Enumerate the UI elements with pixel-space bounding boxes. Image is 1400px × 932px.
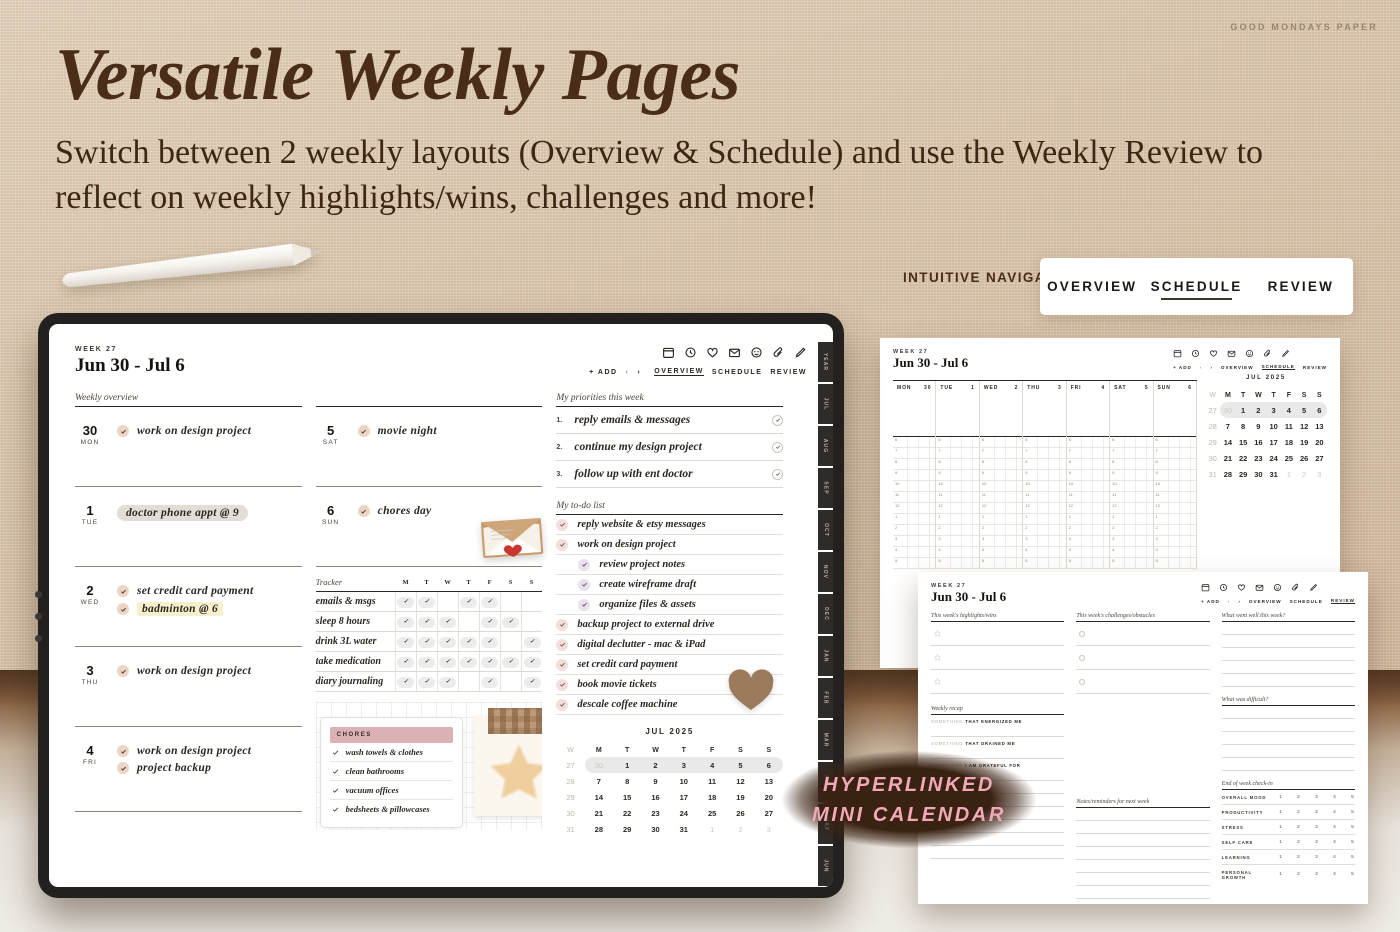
schedule-slot[interactable]: 5 (1154, 558, 1196, 569)
schedule-slot[interactable]: 5 (1067, 558, 1109, 569)
schedule-allday-area[interactable] (1110, 395, 1152, 437)
overview-add-button[interactable]: + ADD (589, 369, 617, 376)
tracker-cell[interactable]: ✓ (437, 592, 458, 612)
event-item[interactable]: work on design project (117, 665, 302, 677)
chore-item[interactable]: wash towels & clothes (330, 743, 453, 762)
schedule-slot[interactable]: 6 (893, 437, 935, 448)
rating-5[interactable]: 5 (1350, 825, 1355, 830)
schedule-tab-schedule[interactable]: SCHEDULE (1262, 364, 1295, 370)
schedule-tab-review[interactable]: REVIEW (1303, 365, 1327, 370)
side-tab-nov[interactable]: NOV (818, 552, 833, 592)
schedule-allday-area[interactable] (893, 395, 935, 437)
schedule-slot[interactable]: 8 (1023, 459, 1065, 470)
clock-icon[interactable] (1219, 583, 1228, 592)
difficult-line[interactable] (1222, 732, 1355, 745)
todo-item[interactable]: digital declutter - mac & iPad (556, 635, 783, 655)
mini-cal-day[interactable]: 17 (670, 789, 698, 805)
schedule-slot[interactable]: 12 (980, 503, 1022, 514)
mini-cal-day[interactable]: 30 (641, 821, 669, 837)
side-tab-feb[interactable]: FEB (818, 678, 833, 718)
wentwell-line[interactable] (1222, 674, 1355, 687)
challenge-entry[interactable] (1076, 646, 1209, 670)
tracker-cell[interactable]: ✓ (500, 592, 521, 612)
check-icon[interactable] (332, 806, 339, 813)
challenge-entry[interactable] (1076, 670, 1209, 694)
schedule-slot[interactable]: 12 (1110, 503, 1152, 514)
todo-item[interactable]: backup project to external drive (556, 615, 783, 635)
mc2-day[interactable]: 27 (1312, 450, 1327, 466)
schedule-mini-calendar[interactable]: JUL 2025 W M T W T F S S 2730123456 2878… (1205, 375, 1327, 569)
mini-cal-week-row[interactable]: 2730123456 (556, 757, 783, 773)
heart-icon[interactable] (706, 346, 719, 359)
difficult-line[interactable] (1222, 745, 1355, 758)
schedule-slot[interactable]: 6 (1154, 437, 1196, 448)
challenge-entry[interactable] (1076, 622, 1209, 646)
rating-2[interactable]: 2 (1296, 825, 1301, 830)
schedule-slot[interactable]: 4 (1154, 547, 1196, 558)
schedule-slot[interactable]: 12 (1067, 503, 1109, 514)
mc2-day[interactable]: 19 (1297, 434, 1312, 450)
mini-cal-day[interactable]: 1 (613, 757, 641, 773)
schedule-slot[interactable]: 7 (1110, 448, 1152, 459)
calendar-icon[interactable] (1173, 349, 1182, 358)
mini-cal-day[interactable]: 7 (585, 773, 613, 789)
side-tab-jul[interactable]: JUL (818, 384, 833, 424)
tracker-cell[interactable]: ✓ (479, 612, 500, 632)
check-icon[interactable] (578, 599, 590, 611)
rating-5[interactable]: 5 (1350, 840, 1355, 845)
schedule-slot[interactable]: 3 (1023, 536, 1065, 547)
tracker-cell[interactable]: ✓ (395, 592, 416, 612)
mini-cal-day[interactable]: 23 (641, 805, 669, 821)
mc2-day[interactable]: 8 (1236, 418, 1251, 434)
overview-tab-schedule[interactable]: SCHEDULE (712, 369, 763, 376)
schedule-slot[interactable]: 11 (1067, 492, 1109, 503)
mc2-day[interactable]: 10 (1266, 418, 1281, 434)
mc2-day[interactable]: 12 (1297, 418, 1312, 434)
check-icon[interactable] (117, 585, 129, 597)
schedule-slot[interactable]: 4 (893, 547, 935, 558)
schedule-slot[interactable]: 9 (1067, 470, 1109, 481)
schedule-column[interactable]: FRI4 678910111212345 (1067, 381, 1110, 569)
todo-item[interactable]: review project notes (556, 555, 783, 575)
schedule-slot[interactable]: 2 (893, 525, 935, 536)
callout-tab-schedule[interactable]: SCHEDULE (1144, 271, 1248, 302)
check-icon[interactable] (556, 639, 568, 651)
check-icon[interactable] (117, 665, 129, 677)
mc2-day[interactable]: 7 (1220, 418, 1235, 434)
schedule-slot[interactable]: 5 (980, 558, 1022, 569)
day-row-mon[interactable]: 30MON work on design project (75, 407, 302, 487)
smiley-icon[interactable] (1245, 349, 1254, 358)
tracker-cell[interactable]: ✓ (395, 632, 416, 652)
mail-icon[interactable] (728, 346, 741, 359)
mini-cal-day[interactable]: 21 (585, 805, 613, 821)
check-icon[interactable] (332, 749, 339, 756)
todo-item[interactable]: work on design project (556, 535, 783, 555)
schedule-slot[interactable]: 6 (1110, 437, 1152, 448)
event-item[interactable]: badminton @ 6 (117, 602, 302, 616)
pencil-icon[interactable] (1281, 349, 1290, 358)
paperclip-icon[interactable] (1263, 349, 1272, 358)
schedule-slot[interactable]: 2 (1067, 525, 1109, 536)
mc2-day[interactable]: 24 (1266, 450, 1281, 466)
mini-cal-day[interactable]: 5 (726, 757, 754, 773)
mini-cal-day[interactable]: 12 (726, 773, 754, 789)
tracker-cell[interactable]: ✓ (479, 652, 500, 672)
schedule-column[interactable]: TUE1 678910111212345 (936, 381, 979, 569)
pencil-icon[interactable] (794, 346, 807, 359)
mini-cal-day[interactable]: 30 (585, 757, 613, 773)
schedule-slot[interactable]: 7 (980, 448, 1022, 459)
rating-1[interactable]: 1 (1278, 795, 1283, 800)
mc2-day[interactable]: 17 (1266, 434, 1281, 450)
schedule-slot[interactable]: 2 (936, 525, 978, 536)
rating-5[interactable]: 5 (1350, 810, 1355, 815)
schedule-slot[interactable]: 2 (1110, 525, 1152, 536)
schedule-slot[interactable]: 7 (893, 448, 935, 459)
mc2-day[interactable]: 13 (1312, 418, 1327, 434)
schedule-slot[interactable]: 1 (1110, 514, 1152, 525)
schedule-slot[interactable]: 9 (936, 470, 978, 481)
schedule-slot[interactable]: 8 (893, 459, 935, 470)
overview-next-button[interactable]: › (637, 369, 641, 376)
mc2-day[interactable]: 28 (1220, 466, 1235, 482)
priority-row[interactable]: 2. continue my design project (556, 434, 783, 461)
check-icon[interactable] (556, 659, 568, 671)
checkin-row[interactable]: OVERALL MOOD 12345 (1222, 790, 1355, 805)
side-tab-jan[interactable]: JAN (818, 636, 833, 676)
schedule-slot[interactable]: 12 (1023, 503, 1065, 514)
mc2-day[interactable]: 30 (1251, 466, 1266, 482)
schedule-column[interactable]: SAT5 678910111212345 (1110, 381, 1153, 569)
tracker-cell[interactable]: ✓ (395, 672, 416, 692)
rating-4[interactable]: 4 (1332, 872, 1337, 877)
rating-3[interactable]: 3 (1314, 840, 1319, 845)
schedule-prev-button[interactable]: ‹ (1200, 365, 1203, 370)
mc2-day[interactable]: 22 (1236, 450, 1251, 466)
schedule-slot[interactable]: 3 (1067, 536, 1109, 547)
check-icon[interactable] (772, 415, 783, 426)
schedule-slot[interactable]: 8 (1110, 459, 1152, 470)
event-item[interactable]: work on design project (117, 745, 302, 757)
mini-cal-day[interactable]: 10 (670, 773, 698, 789)
mini-cal-day[interactable]: 25 (698, 805, 726, 821)
notes-input-line[interactable] (1076, 821, 1209, 834)
side-tab-year[interactable]: YEAR (818, 342, 833, 382)
check-icon[interactable] (556, 539, 568, 551)
mc2-day[interactable]: 25 (1281, 450, 1296, 466)
schedule-slot[interactable]: 6 (1067, 437, 1109, 448)
schedule-slot[interactable]: 6 (980, 437, 1022, 448)
mc2-day[interactable]: 14 (1220, 434, 1235, 450)
tracker-cell[interactable]: ✓ (479, 632, 500, 652)
mc2-day[interactable]: 1 (1236, 402, 1251, 418)
callout-tab-overview[interactable]: OVERVIEW (1040, 271, 1144, 302)
review-next-button[interactable]: › (1238, 599, 1241, 604)
mc2-day[interactable]: 2 (1251, 402, 1266, 418)
check-icon[interactable] (556, 619, 568, 631)
mini-cal-day[interactable]: 31 (670, 821, 698, 837)
schedule-allday-area[interactable] (1154, 395, 1196, 437)
day-row-fri[interactable]: 4FRI work on design project project back… (75, 727, 302, 807)
check-icon[interactable] (117, 762, 129, 774)
rating-3[interactable]: 3 (1314, 810, 1319, 815)
schedule-slot[interactable]: 4 (1023, 547, 1065, 558)
tracker-cell[interactable]: ✓ (500, 632, 521, 652)
pencil-icon[interactable] (1309, 583, 1318, 592)
mc2-day[interactable]: 3 (1266, 402, 1281, 418)
mini-cal-day[interactable]: 22 (613, 805, 641, 821)
check-icon[interactable] (772, 442, 783, 453)
tracker-cell[interactable]: ✓ (416, 652, 437, 672)
clock-icon[interactable] (684, 346, 697, 359)
day-row-sat[interactable]: 5SAT movie night (316, 407, 543, 487)
event-item[interactable]: work on design project (117, 425, 302, 437)
schedule-slot[interactable]: 9 (1154, 470, 1196, 481)
schedule-slot[interactable]: 7 (1067, 448, 1109, 459)
schedule-column[interactable]: MON30 678910111212345 (893, 381, 936, 569)
notes-input-line[interactable] (1076, 873, 1209, 886)
priority-row[interactable]: 3. follow up with ent doctor (556, 461, 783, 488)
mail-icon[interactable] (1255, 583, 1264, 592)
rating-1[interactable]: 1 (1278, 872, 1283, 877)
check-icon[interactable] (117, 745, 129, 757)
day-row-thu[interactable]: 3THU work on design project (75, 647, 302, 727)
schedule-slot[interactable]: 12 (936, 503, 978, 514)
mini-cal-day[interactable]: 18 (698, 789, 726, 805)
paperclip-icon[interactable] (1291, 583, 1300, 592)
schedule-slot[interactable]: 3 (1154, 536, 1196, 547)
tracker-cell[interactable]: ✓ (416, 672, 437, 692)
mc2-day[interactable]: 6 (1312, 402, 1327, 418)
highlight-entry[interactable] (931, 622, 1064, 646)
overview-tab-review[interactable]: REVIEW (770, 369, 807, 376)
schedule-slot[interactable]: 3 (936, 536, 978, 547)
day-row-tue[interactable]: 1TUE doctor phone appt @ 9 (75, 487, 302, 567)
schedule-slot[interactable]: 9 (1110, 470, 1152, 481)
rating-2[interactable]: 2 (1296, 855, 1301, 860)
rating-2[interactable]: 2 (1296, 840, 1301, 845)
checkin-row[interactable]: PERSONAL GROWTH 12345 (1222, 865, 1355, 884)
tracker-cell[interactable]: ✓ (458, 672, 479, 692)
mc2-day[interactable]: 20 (1312, 434, 1327, 450)
schedule-slot[interactable]: 10 (893, 481, 935, 492)
tracker-cell[interactable]: ✓ (437, 612, 458, 632)
mini-cal-week-row[interactable]: 3128293031123 (556, 821, 783, 837)
mini-cal-week-row[interactable]: 2878910111213 (556, 773, 783, 789)
tracker-cell[interactable]: ✓ (521, 592, 542, 612)
mc2-day[interactable]: 15 (1236, 434, 1251, 450)
tracker-cell[interactable]: ✓ (458, 632, 479, 652)
mc2-day[interactable]: 5 (1297, 402, 1312, 418)
checkin-row[interactable]: LEARNING 12345 (1222, 850, 1355, 865)
rating-4[interactable]: 4 (1332, 795, 1337, 800)
schedule-slot[interactable]: 12 (893, 503, 935, 514)
schedule-slot[interactable]: 10 (1023, 481, 1065, 492)
mini-cal-day[interactable]: 3 (670, 757, 698, 773)
schedule-slot[interactable]: 1 (936, 514, 978, 525)
mc2-day[interactable]: 30 (1220, 402, 1235, 418)
todo-item[interactable]: create wireframe draft (556, 575, 783, 595)
overview-tab-overview[interactable]: OVERVIEW (654, 368, 704, 376)
rating-3[interactable]: 3 (1314, 872, 1319, 877)
schedule-slot[interactable]: 2 (1154, 525, 1196, 536)
tracker-cell[interactable]: ✓ (500, 652, 521, 672)
schedule-slot[interactable]: 7 (1154, 448, 1196, 459)
side-tab-aug[interactable]: AUG (818, 426, 833, 466)
check-icon[interactable] (332, 787, 339, 794)
schedule-slot[interactable]: 5 (936, 558, 978, 569)
notes-input-line[interactable] (1076, 860, 1209, 873)
mini-cal-day[interactable]: 26 (726, 805, 754, 821)
schedule-slot[interactable]: 7 (936, 448, 978, 459)
difficult-line[interactable] (1222, 758, 1355, 771)
schedule-slot[interactable]: 11 (1154, 492, 1196, 503)
clock-icon[interactable] (1191, 349, 1200, 358)
smiley-icon[interactable] (750, 346, 763, 359)
rating-5[interactable]: 5 (1350, 795, 1355, 800)
mini-cal-day[interactable]: 24 (670, 805, 698, 821)
side-tab-oct[interactable]: OCT (818, 510, 833, 550)
difficult-line[interactable] (1222, 719, 1355, 732)
calendar-icon[interactable] (1201, 583, 1210, 592)
check-icon[interactable] (332, 768, 339, 775)
schedule-slot[interactable]: 11 (936, 492, 978, 503)
tracker-cell[interactable]: ✓ (458, 592, 479, 612)
tracker-cell[interactable]: ✓ (521, 672, 542, 692)
schedule-slot[interactable]: 3 (893, 536, 935, 547)
wentwell-line[interactable] (1222, 661, 1355, 674)
overview-prev-button[interactable]: ‹ (626, 369, 630, 376)
mini-cal-day[interactable]: 11 (698, 773, 726, 789)
tracker-cell[interactable]: ✓ (395, 612, 416, 632)
check-icon[interactable] (578, 579, 590, 591)
schedule-slot[interactable]: 7 (1023, 448, 1065, 459)
schedule-slot[interactable]: 11 (1023, 492, 1065, 503)
mini-cal-day[interactable]: 14 (585, 789, 613, 805)
mini-cal-week-row[interactable]: 3021222324252627 (556, 805, 783, 821)
rating-4[interactable]: 4 (1332, 825, 1337, 830)
chore-item[interactable]: clean bathrooms (330, 762, 453, 781)
rating-1[interactable]: 1 (1278, 855, 1283, 860)
review-add-button[interactable]: + ADD (1201, 599, 1220, 604)
schedule-slot[interactable]: 2 (1023, 525, 1065, 536)
mail-icon[interactable] (1227, 349, 1236, 358)
highlight-entry[interactable] (931, 670, 1064, 694)
schedule-slot[interactable]: 4 (980, 547, 1022, 558)
check-icon[interactable] (117, 425, 129, 437)
schedule-slot[interactable]: 6 (936, 437, 978, 448)
schedule-slot[interactable]: 3 (980, 536, 1022, 547)
tracker-cell[interactable]: ✓ (479, 592, 500, 612)
schedule-slot[interactable]: 9 (893, 470, 935, 481)
day-row-wed[interactable]: 2WED set credit card payment badminton @… (75, 567, 302, 647)
schedule-allday-area[interactable] (980, 395, 1022, 437)
check-icon[interactable] (556, 519, 568, 531)
review-tab-overview[interactable]: OVERVIEW (1249, 599, 1282, 604)
todo-item[interactable]: organize files & assets (556, 595, 783, 615)
check-icon[interactable] (556, 679, 568, 691)
mc2-day[interactable]: 21 (1220, 450, 1235, 466)
schedule-slot[interactable]: 11 (893, 492, 935, 503)
heart-icon[interactable] (1209, 349, 1218, 358)
tracker-cell[interactable]: ✓ (395, 652, 416, 672)
priority-row[interactable]: 1. reply emails & messages (556, 407, 783, 434)
mc2-day[interactable]: 1 (1281, 466, 1296, 482)
mc2-day[interactable]: 23 (1251, 450, 1266, 466)
tracker-cell[interactable]: ✓ (437, 672, 458, 692)
check-icon[interactable] (556, 699, 568, 711)
mc2-day[interactable]: 31 (1266, 466, 1281, 482)
rating-5[interactable]: 5 (1350, 855, 1355, 860)
tracker-cell[interactable]: ✓ (416, 612, 437, 632)
mini-calendar[interactable]: JUL 2025 W M T W T F S S (556, 727, 783, 837)
mini-cal-day[interactable]: 4 (698, 757, 726, 773)
wentwell-line[interactable] (1222, 622, 1355, 635)
mc2-day[interactable]: 16 (1251, 434, 1266, 450)
schedule-column[interactable]: WED2 678910111212345 (980, 381, 1023, 569)
side-tab-dec[interactable]: DEC (818, 594, 833, 634)
event-item[interactable]: movie night (358, 425, 543, 437)
rating-2[interactable]: 2 (1296, 810, 1301, 815)
calendar-icon[interactable] (662, 346, 675, 359)
difficult-line[interactable] (1222, 706, 1355, 719)
mc2-day[interactable]: 3 (1312, 466, 1327, 482)
wentwell-line[interactable] (1222, 648, 1355, 661)
schedule-slot[interactable]: 6 (1023, 437, 1065, 448)
check-icon[interactable] (358, 425, 370, 437)
mini-cal-day[interactable]: 16 (641, 789, 669, 805)
schedule-slot[interactable]: 11 (1110, 492, 1152, 503)
review-prev-button[interactable]: ‹ (1228, 599, 1231, 604)
smiley-icon[interactable] (1273, 583, 1282, 592)
rating-4[interactable]: 4 (1332, 855, 1337, 860)
side-tab-sep[interactable]: SEP (818, 468, 833, 508)
review-tab-review[interactable]: REVIEW (1331, 598, 1355, 604)
tracker-cell[interactable]: ✓ (416, 592, 437, 612)
schedule-column[interactable]: THU3 678910111212345 (1023, 381, 1066, 569)
rating-3[interactable]: 3 (1314, 795, 1319, 800)
mc2-day[interactable]: 9 (1251, 418, 1266, 434)
tracker-cell[interactable]: ✓ (458, 652, 479, 672)
tracker-cell[interactable]: ✓ (437, 632, 458, 652)
check-icon[interactable] (117, 603, 129, 615)
schedule-next-button[interactable]: › (1210, 365, 1213, 370)
wentwell-line[interactable] (1222, 635, 1355, 648)
recap-input-line[interactable] (931, 724, 1064, 737)
chore-item[interactable]: bedsheets & pillowcases (330, 800, 453, 818)
rating-1[interactable]: 1 (1278, 825, 1283, 830)
schedule-slot[interactable]: 8 (1067, 459, 1109, 470)
tracker-cell[interactable]: ✓ (479, 672, 500, 692)
todo-item[interactable]: reply website & etsy messages (556, 515, 783, 535)
rating-3[interactable]: 3 (1314, 825, 1319, 830)
notes-input-line[interactable] (1076, 834, 1209, 847)
highlight-entry[interactable] (931, 646, 1064, 670)
checkin-row[interactable]: PRODUCTIVITY 12345 (1222, 805, 1355, 820)
rating-2[interactable]: 2 (1296, 872, 1301, 877)
schedule-allday-area[interactable] (1067, 395, 1109, 437)
schedule-column[interactable]: SUN6 678910111212345 (1154, 381, 1197, 569)
mc2-day[interactable]: 29 (1236, 466, 1251, 482)
notes-input-line[interactable] (1076, 808, 1209, 821)
mc2-day[interactable]: 26 (1297, 450, 1312, 466)
schedule-slot[interactable]: 10 (980, 481, 1022, 492)
schedule-slot[interactable]: 1 (893, 514, 935, 525)
mc2-day[interactable]: 18 (1281, 434, 1296, 450)
mc2-day[interactable]: 2 (1297, 466, 1312, 482)
